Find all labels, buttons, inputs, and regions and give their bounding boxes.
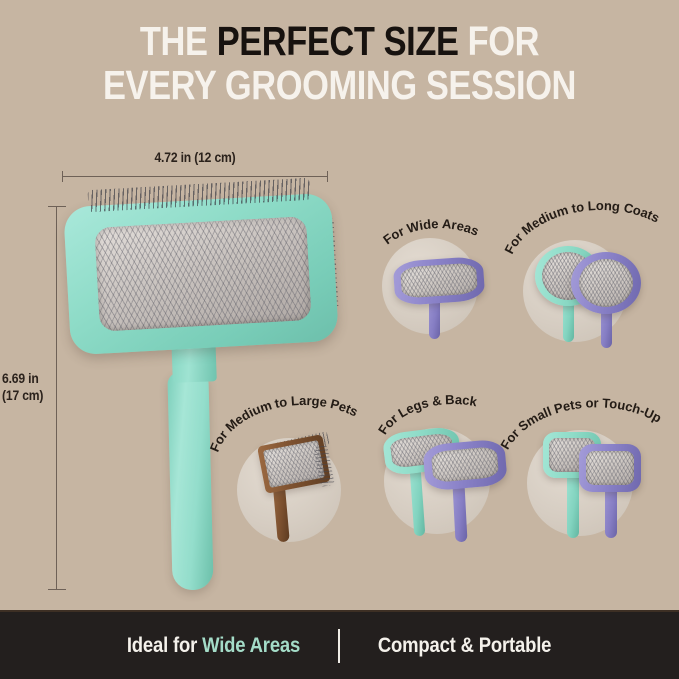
brush-pin-pad <box>586 451 634 485</box>
headline-line-1: THE PERFECT SIZE FOR <box>54 22 624 61</box>
brush-pin-pad <box>579 259 633 307</box>
brush-handle <box>567 474 579 538</box>
footer-bar: Ideal for Wide Areas Compact & Portable <box>0 612 679 679</box>
callout-legs-back: For Legs & Back <box>370 386 516 536</box>
headline-word-for: FOR <box>459 18 540 64</box>
callout-wide-areas: For Wide Areas <box>374 206 498 334</box>
footer-divider <box>338 629 340 663</box>
infographic-canvas: THE PERFECT SIZE FOR EVERY GROOMING SESS… <box>0 0 679 679</box>
brush-head <box>422 439 508 492</box>
width-dimension-label: 4.72 in (12 cm) <box>75 150 314 165</box>
footer-left-plain: Ideal for <box>127 634 202 657</box>
width-dimension-line <box>62 176 328 177</box>
brush-handle <box>410 468 426 537</box>
brush-head <box>571 252 641 314</box>
brush-purple-rect <box>424 442 516 542</box>
height-dimension-label: 6.69 in (17 cm) <box>2 371 49 405</box>
footer-right-text: Compact & Portable <box>378 634 551 658</box>
brush-head <box>393 256 486 306</box>
hero-brush-handle <box>167 372 213 591</box>
height-dimension-cm: (17 cm) <box>2 388 49 405</box>
width-dimension-cap-left <box>62 171 63 182</box>
callout-medium-large-pets: For Medium to Large Pets <box>215 382 367 542</box>
width-dimension-cap-right <box>327 171 328 182</box>
headline-word-the: THE <box>140 18 217 64</box>
brush-handle <box>452 484 467 543</box>
brush-purple-small <box>579 442 659 538</box>
headline-line-2: EVERY GROOMING SESSION <box>54 66 624 105</box>
footer-left-accent: Wide Areas <box>203 634 301 657</box>
brush-wood-square <box>257 424 345 542</box>
callout-medium-long-coats: For Medium to Long Coats <box>505 200 673 342</box>
hero-brush-head <box>63 193 339 356</box>
headline-word-perfect-size: PERFECT SIZE <box>217 18 459 64</box>
brush-pin-pad <box>431 446 499 483</box>
brush-pin-pad <box>400 262 478 298</box>
height-dimension-line <box>56 206 57 590</box>
height-dimension-inches: 6.69 in <box>2 371 49 388</box>
brush-purple-rect <box>394 252 494 334</box>
brush-purple-round <box>571 252 647 348</box>
brush-head <box>579 444 641 492</box>
footer-left-text: Ideal for Wide Areas <box>127 634 300 658</box>
callout-small-pets-touch-up: For Small Pets or Touch-Up <box>505 386 673 538</box>
page-title: THE PERFECT SIZE FOR EVERY GROOMING SESS… <box>0 22 679 105</box>
brush-handle <box>605 488 617 538</box>
hero-brush-pin-pad <box>94 216 311 332</box>
